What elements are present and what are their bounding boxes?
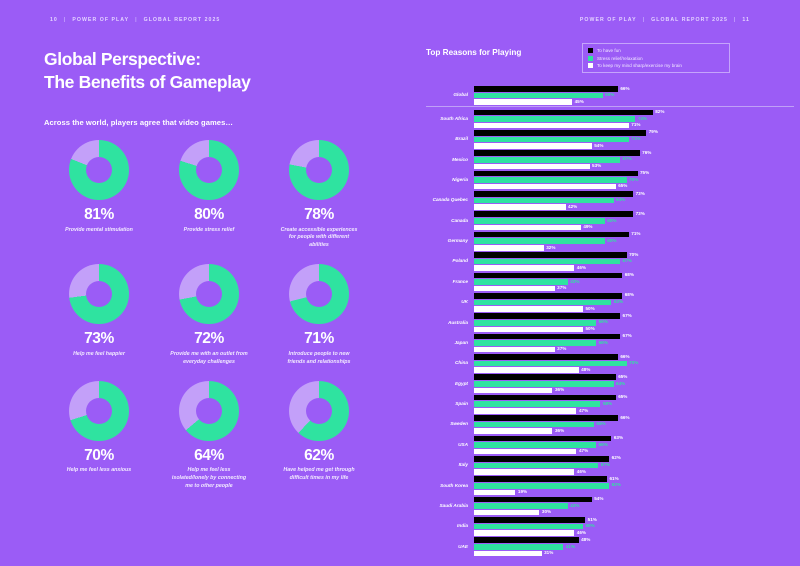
bar-value-str: 64% — [616, 198, 625, 203]
country-label: Nigeria — [426, 177, 474, 183]
bar-row-str: 59% — [474, 93, 794, 99]
bar-str — [474, 279, 568, 285]
running-head-right: POWER OF PLAY | GLOBAL REPORT 2025 | 11 — [580, 17, 750, 23]
bar-value-fun: 76% — [642, 151, 651, 156]
donut-chart-grid: 81%Provide mental stimulation80%Provide … — [44, 140, 374, 491]
bar-row-mind: 46% — [474, 530, 794, 536]
bar-row-str: 70% — [474, 177, 794, 183]
bar-row-str: 41% — [474, 544, 794, 550]
bar-value-fun: 65% — [618, 395, 627, 400]
running-head-left: 10 | POWER OF PLAY | GLOBAL REPORT 2025 — [50, 17, 220, 23]
donut-label: Help me feel less anxious — [67, 467, 131, 475]
bar-value-str: 55% — [596, 422, 605, 427]
bar-track-group: 67%56%37% — [474, 334, 794, 353]
bar-row-fun: 67% — [474, 313, 794, 319]
bar-row-fun: 67% — [474, 334, 794, 340]
bar-row-fun: 73% — [474, 211, 794, 217]
bar-value-str: 67% — [623, 259, 632, 264]
bar-value-str: 57% — [601, 463, 610, 468]
bar-row-fun: 54% — [474, 497, 794, 503]
donut-stat: 78%Create accessible experiences for peo… — [264, 140, 374, 250]
bar-row-str: 43% — [474, 503, 794, 509]
donut-label: Help me feel happier — [73, 351, 125, 359]
donut-label: Help me feel less isolated/lonely by con… — [170, 467, 248, 491]
country-label: Canada — [426, 218, 474, 224]
donut-ring — [289, 140, 349, 200]
bar-group: Canada Quebec73%64%42% — [426, 191, 794, 210]
donut-value: 80% — [194, 207, 224, 223]
bar-track-group: 65%64%36% — [474, 374, 794, 393]
country-label: Italy — [426, 462, 474, 468]
country-label: Brazil — [426, 136, 474, 142]
bar-value-str: 41% — [566, 545, 575, 550]
legend-swatch-icon — [588, 56, 593, 61]
bar-row-fun: 51% — [474, 517, 794, 523]
bar-row-fun: 68% — [474, 273, 794, 279]
bar-fun — [474, 211, 633, 217]
bar-group: South Korea61%62%19% — [426, 476, 794, 495]
bar-value-mind: 30% — [542, 510, 551, 515]
bar-value-mind: 36% — [555, 429, 564, 434]
bar-value-str: 60% — [607, 239, 616, 244]
bar-fun — [474, 150, 640, 156]
runhead-separator: | — [734, 17, 737, 23]
bar-value-str: 56% — [599, 320, 608, 325]
bar-mind — [474, 286, 555, 292]
country-label: South Korea — [426, 483, 474, 489]
bar-row-str: 64% — [474, 198, 794, 204]
bar-mind — [474, 204, 566, 210]
bar-row-str: 64% — [474, 381, 794, 387]
bar-value-fun: 68% — [625, 273, 634, 278]
bar-mind — [474, 347, 555, 353]
bar-str — [474, 93, 603, 99]
donut-value: 71% — [304, 331, 334, 347]
bar-fun — [474, 191, 633, 197]
donut-ring — [289, 381, 349, 441]
bar-group: Global66%59%45% — [426, 86, 794, 105]
bar-track-group: 61%62%19% — [474, 476, 794, 495]
bar-value-mind: 46% — [577, 266, 586, 271]
donut-hole — [196, 281, 222, 307]
bar-track-group: 68%43%37% — [474, 273, 794, 292]
donut-stat: 62%Have helped me get through difficult … — [264, 381, 374, 491]
bar-value-mind: 37% — [557, 347, 566, 352]
bar-value-mind: 47% — [579, 409, 588, 414]
legend-label: To have fun — [597, 48, 621, 53]
bar-track-group: 54%43%30% — [474, 497, 794, 516]
bar-value-fun: 63% — [614, 436, 623, 441]
bar-str — [474, 340, 596, 346]
bar-str — [474, 524, 583, 530]
bar-track-group: 70%67%46% — [474, 252, 794, 271]
bar-row-str: 60% — [474, 218, 794, 224]
bar-value-fun: 68% — [625, 293, 634, 298]
bar-row-mind: 48% — [474, 367, 794, 373]
bar-track-group: 68%63%50% — [474, 293, 794, 312]
bar-group: Australia67%56%50% — [426, 313, 794, 332]
bar-value-mind: 65% — [618, 184, 627, 189]
bar-value-str: 58% — [603, 402, 612, 407]
donut-value: 78% — [304, 207, 334, 223]
bar-str — [474, 137, 629, 143]
bar-str — [474, 198, 614, 204]
bar-track-group: 73%64%42% — [474, 191, 794, 210]
bar-row-str: 62% — [474, 483, 794, 489]
right-page: POWER OF PLAY | GLOBAL REPORT 2025 | 11 … — [420, 0, 800, 566]
bar-value-fun: 62% — [612, 456, 621, 461]
bar-row-mind: 49% — [474, 225, 794, 231]
bar-row-str: 43% — [474, 279, 794, 285]
bar-row-fun: 68% — [474, 293, 794, 299]
runhead-separator: | — [643, 17, 646, 23]
legend-label: Stress relief/relaxation — [597, 56, 643, 61]
bar-row-fun: 66% — [474, 354, 794, 360]
donut-hole — [306, 281, 332, 307]
bar-fun — [474, 86, 618, 92]
bar-value-mind: 32% — [546, 246, 555, 251]
bar-mind — [474, 164, 590, 170]
bar-str — [474, 116, 635, 122]
bar-value-str: 71% — [631, 137, 640, 142]
country-label: Japan — [426, 340, 474, 346]
bar-value-str: 62% — [612, 483, 621, 488]
bar-row-mind: 30% — [474, 510, 794, 516]
country-label: Mexico — [426, 157, 474, 163]
bar-fun — [474, 232, 629, 238]
bar-mind — [474, 428, 552, 434]
bar-group: Japan67%56%37% — [426, 334, 794, 353]
bar-mind — [474, 490, 515, 496]
bar-row-mind: 42% — [474, 204, 794, 210]
bar-value-fun: 66% — [620, 416, 629, 421]
bar-value-fun: 75% — [640, 171, 649, 176]
bar-fun — [474, 374, 616, 380]
legend-item-mind[interactable]: To keep my mind sharp/exercise my brain — [588, 63, 724, 68]
donut-ring — [179, 264, 239, 324]
bar-value-str: 63% — [614, 300, 623, 305]
bar-row-mind: 37% — [474, 286, 794, 292]
country-label: Poland — [426, 258, 474, 264]
bar-fun — [474, 313, 620, 319]
donut-label: Introduce people to new friends and rela… — [280, 351, 358, 367]
donut-value: 70% — [84, 448, 114, 464]
bar-mind — [474, 367, 579, 373]
brand-label-left: POWER OF PLAY — [72, 17, 129, 23]
country-label: South Africa — [426, 116, 474, 122]
bar-str — [474, 238, 605, 244]
bar-value-fun: 73% — [636, 212, 645, 217]
country-label: Sweden — [426, 421, 474, 427]
bar-track-group: 51%50%46% — [474, 517, 794, 536]
country-label: USA — [426, 442, 474, 448]
bar-row-mind: 45% — [474, 99, 794, 105]
bar-row-str: 67% — [474, 157, 794, 163]
bar-row-fun: 82% — [474, 110, 794, 116]
bar-value-fun: 67% — [623, 314, 632, 319]
bar-value-fun: 51% — [588, 518, 597, 523]
bar-row-str: 58% — [474, 401, 794, 407]
bar-value-mind: 19% — [518, 490, 527, 495]
donut-ring — [69, 140, 129, 200]
country-label: UK — [426, 299, 474, 305]
donut-value: 64% — [194, 448, 224, 464]
donut-hole — [196, 398, 222, 424]
bar-fun — [474, 110, 653, 116]
bar-group: Nigeria75%70%65% — [426, 171, 794, 190]
donut-label: Provide stress relief — [184, 227, 235, 235]
bar-value-str: 70% — [629, 361, 638, 366]
bar-value-str: 64% — [616, 382, 625, 387]
bar-track-group: 66%70%48% — [474, 354, 794, 373]
bar-value-fun: 61% — [609, 477, 618, 482]
bar-value-mind: 45% — [575, 100, 584, 105]
donut-hole — [86, 157, 112, 183]
bar-str — [474, 463, 598, 469]
bar-row-mind: 71% — [474, 123, 794, 129]
bar-row-fun: 65% — [474, 395, 794, 401]
bar-row-fun: 63% — [474, 436, 794, 442]
bar-value-str: 60% — [607, 219, 616, 224]
bar-row-fun: 66% — [474, 415, 794, 421]
donut-stat: 81%Provide mental stimulation — [44, 140, 154, 250]
bar-fun — [474, 334, 620, 340]
bar-value-fun: 54% — [594, 497, 603, 502]
bar-mind — [474, 245, 544, 251]
bar-value-fun: 71% — [631, 232, 640, 237]
bar-fun — [474, 273, 622, 279]
bar-value-mind: 50% — [586, 327, 595, 332]
bar-row-fun: 70% — [474, 252, 794, 258]
bar-str — [474, 320, 596, 326]
bar-row-mind: 50% — [474, 306, 794, 312]
bar-value-str: 70% — [629, 178, 638, 183]
bar-fun — [474, 252, 627, 258]
donut-hole — [86, 398, 112, 424]
bar-group: Saudi Arabia54%43%30% — [426, 497, 794, 516]
bar-group: Egypt65%64%36% — [426, 374, 794, 393]
bar-mind — [474, 99, 572, 105]
bar-row-mind: 46% — [474, 469, 794, 475]
donut-value: 81% — [84, 207, 114, 223]
bar-row-mind: 36% — [474, 388, 794, 394]
donut-stat: 64%Help me feel less isolated/lonely by … — [154, 381, 264, 491]
bar-str — [474, 422, 594, 428]
bar-fun — [474, 354, 618, 360]
bar-mind — [474, 388, 552, 394]
bar-value-mind: 42% — [568, 205, 577, 210]
bar-track-group: 71%60%32% — [474, 232, 794, 251]
country-label: India — [426, 523, 474, 529]
bar-row-mind: 37% — [474, 347, 794, 353]
country-label: Australia — [426, 320, 474, 326]
bar-group: Mexico76%67%53% — [426, 150, 794, 169]
bar-value-mind: 54% — [594, 144, 603, 149]
page-number-right: 11 — [742, 17, 750, 23]
bar-track-group: 66%59%45% — [474, 86, 794, 105]
bar-mind — [474, 225, 581, 231]
legend-item-fun[interactable]: To have fun — [588, 48, 724, 53]
donut-ring — [69, 264, 129, 324]
bar-value-fun: 82% — [655, 110, 664, 115]
report-label-left: GLOBAL REPORT 2025 — [144, 17, 221, 23]
bar-row-str: 63% — [474, 300, 794, 306]
donut-ring — [289, 264, 349, 324]
bar-value-mind: 46% — [577, 531, 586, 536]
bar-fun — [474, 171, 638, 177]
bar-str — [474, 503, 568, 509]
bar-group: Poland70%67%46% — [426, 252, 794, 271]
bar-track-group: 62%57%46% — [474, 456, 794, 475]
bar-fun — [474, 415, 618, 421]
bar-row-mind: 65% — [474, 184, 794, 190]
bar-str — [474, 401, 600, 407]
bar-fun — [474, 436, 611, 442]
bar-mind — [474, 551, 542, 557]
bar-group: UAE48%41%31% — [426, 537, 794, 556]
chart-title: Top Reasons for Playing — [426, 48, 521, 57]
bar-fun — [474, 456, 609, 462]
donut-label: Provide mental stimulation — [65, 227, 133, 235]
bar-row-mind: 54% — [474, 143, 794, 149]
left-page: 10 | POWER OF PLAY | GLOBAL REPORT 2025 … — [0, 0, 420, 566]
bar-str — [474, 157, 620, 163]
report-label-right: GLOBAL REPORT 2025 — [651, 17, 728, 23]
donut-ring — [179, 140, 239, 200]
bar-value-str: 67% — [623, 157, 632, 162]
donut-value: 62% — [304, 448, 334, 464]
bar-row-mind: 32% — [474, 245, 794, 251]
bar-value-mind: 49% — [583, 225, 592, 230]
bar-track-group: 48%41%31% — [474, 537, 794, 556]
donut-hole — [306, 398, 332, 424]
bar-row-fun: 66% — [474, 86, 794, 92]
country-label: Egypt — [426, 381, 474, 387]
bar-value-mind: 36% — [555, 388, 564, 393]
bar-mind — [474, 469, 574, 475]
bar-str — [474, 483, 609, 489]
bar-track-group: 73%60%49% — [474, 211, 794, 230]
bar-row-str: 67% — [474, 259, 794, 265]
bar-value-mind: 71% — [631, 123, 640, 128]
bar-mind — [474, 265, 574, 271]
bar-str — [474, 300, 611, 306]
legend-item-str[interactable]: Stress relief/relaxation — [588, 56, 724, 61]
bar-str — [474, 361, 627, 367]
legend-label: To keep my mind sharp/exercise my brain — [597, 63, 682, 68]
bar-track-group: 65%58%47% — [474, 395, 794, 414]
legend-swatch-icon — [588, 48, 593, 53]
bar-value-mind: 53% — [592, 164, 601, 169]
country-label: UAE — [426, 544, 474, 550]
donut-hole — [306, 157, 332, 183]
bar-value-str: 59% — [605, 93, 614, 98]
bar-row-fun: 65% — [474, 374, 794, 380]
bar-track-group: 79%71%54% — [474, 130, 794, 149]
bar-mind — [474, 327, 583, 333]
bar-row-fun: 76% — [474, 150, 794, 156]
bar-value-str: 74% — [638, 117, 647, 122]
bar-row-str: 56% — [474, 320, 794, 326]
bar-mind — [474, 143, 592, 149]
bar-value-fun: 67% — [623, 334, 632, 339]
bar-value-fun: 48% — [581, 538, 590, 543]
bar-value-mind: 50% — [586, 307, 595, 312]
runhead-separator: | — [64, 17, 67, 23]
bar-row-mind: 46% — [474, 265, 794, 271]
bar-fun — [474, 130, 646, 136]
donut-value: 72% — [194, 331, 224, 347]
bar-str — [474, 381, 614, 387]
bar-str — [474, 442, 596, 448]
country-label: Germany — [426, 238, 474, 244]
bar-group: USA63%56%47% — [426, 436, 794, 455]
bar-fun — [474, 476, 607, 482]
report-spread: 10 | POWER OF PLAY | GLOBAL REPORT 2025 … — [0, 0, 800, 566]
bar-mind — [474, 510, 539, 516]
bar-str — [474, 218, 605, 224]
chart-legend: To have funStress relief/relaxationTo ke… — [582, 43, 730, 73]
bar-row-str: 56% — [474, 340, 794, 346]
bar-track-group: 67%56%50% — [474, 313, 794, 332]
bar-row-fun: 71% — [474, 232, 794, 238]
bar-fun — [474, 497, 592, 503]
bar-mind — [474, 184, 616, 190]
bar-value-str: 43% — [570, 280, 579, 285]
country-label: China — [426, 360, 474, 366]
bar-group: Italy62%57%46% — [426, 456, 794, 475]
bar-str — [474, 259, 620, 265]
bar-fun — [474, 517, 585, 523]
bar-value-str: 50% — [586, 524, 595, 529]
donut-label: Have helped me get through difficult tim… — [280, 467, 358, 483]
bar-value-fun: 66% — [620, 355, 629, 360]
bar-str — [474, 177, 627, 183]
bar-track-group: 66%55%36% — [474, 415, 794, 434]
bar-value-fun: 73% — [636, 192, 645, 197]
bar-row-mind: 53% — [474, 164, 794, 170]
bar-value-fun: 70% — [629, 253, 638, 258]
runhead-separator: | — [135, 17, 138, 23]
bar-value-str: 43% — [570, 504, 579, 509]
bar-row-mind: 31% — [474, 551, 794, 557]
bar-row-str: 70% — [474, 361, 794, 367]
bar-value-fun: 65% — [618, 375, 627, 380]
bar-group: Canada73%60%49% — [426, 211, 794, 230]
bar-value-mind: 31% — [544, 551, 553, 556]
donut-label: Create accessible experiences for people… — [280, 227, 358, 251]
donut-hole — [86, 281, 112, 307]
bar-row-str: 71% — [474, 137, 794, 143]
bar-value-mind: 37% — [557, 286, 566, 291]
bar-row-mind: 47% — [474, 449, 794, 455]
bar-row-fun: 61% — [474, 476, 794, 482]
bar-track-group: 63%56%47% — [474, 436, 794, 455]
bar-group: Brazil79%71%54% — [426, 130, 794, 149]
bar-chart: Global66%59%45%South Africa82%74%71%Braz… — [426, 86, 794, 558]
donut-stat: 80%Provide stress relief — [154, 140, 264, 250]
donut-ring — [179, 381, 239, 441]
country-label: France — [426, 279, 474, 285]
page-title-line1: Global Perspective: — [44, 49, 201, 69]
bar-row-mind: 19% — [474, 490, 794, 496]
bar-group: Sweden66%55%36% — [426, 415, 794, 434]
donut-stat: 71%Introduce people to new friends and r… — [264, 264, 374, 366]
bar-track-group: 82%74%71% — [474, 110, 794, 129]
bar-str — [474, 544, 563, 550]
country-label: Canada Quebec — [426, 197, 474, 203]
legend-swatch-icon — [588, 63, 593, 68]
